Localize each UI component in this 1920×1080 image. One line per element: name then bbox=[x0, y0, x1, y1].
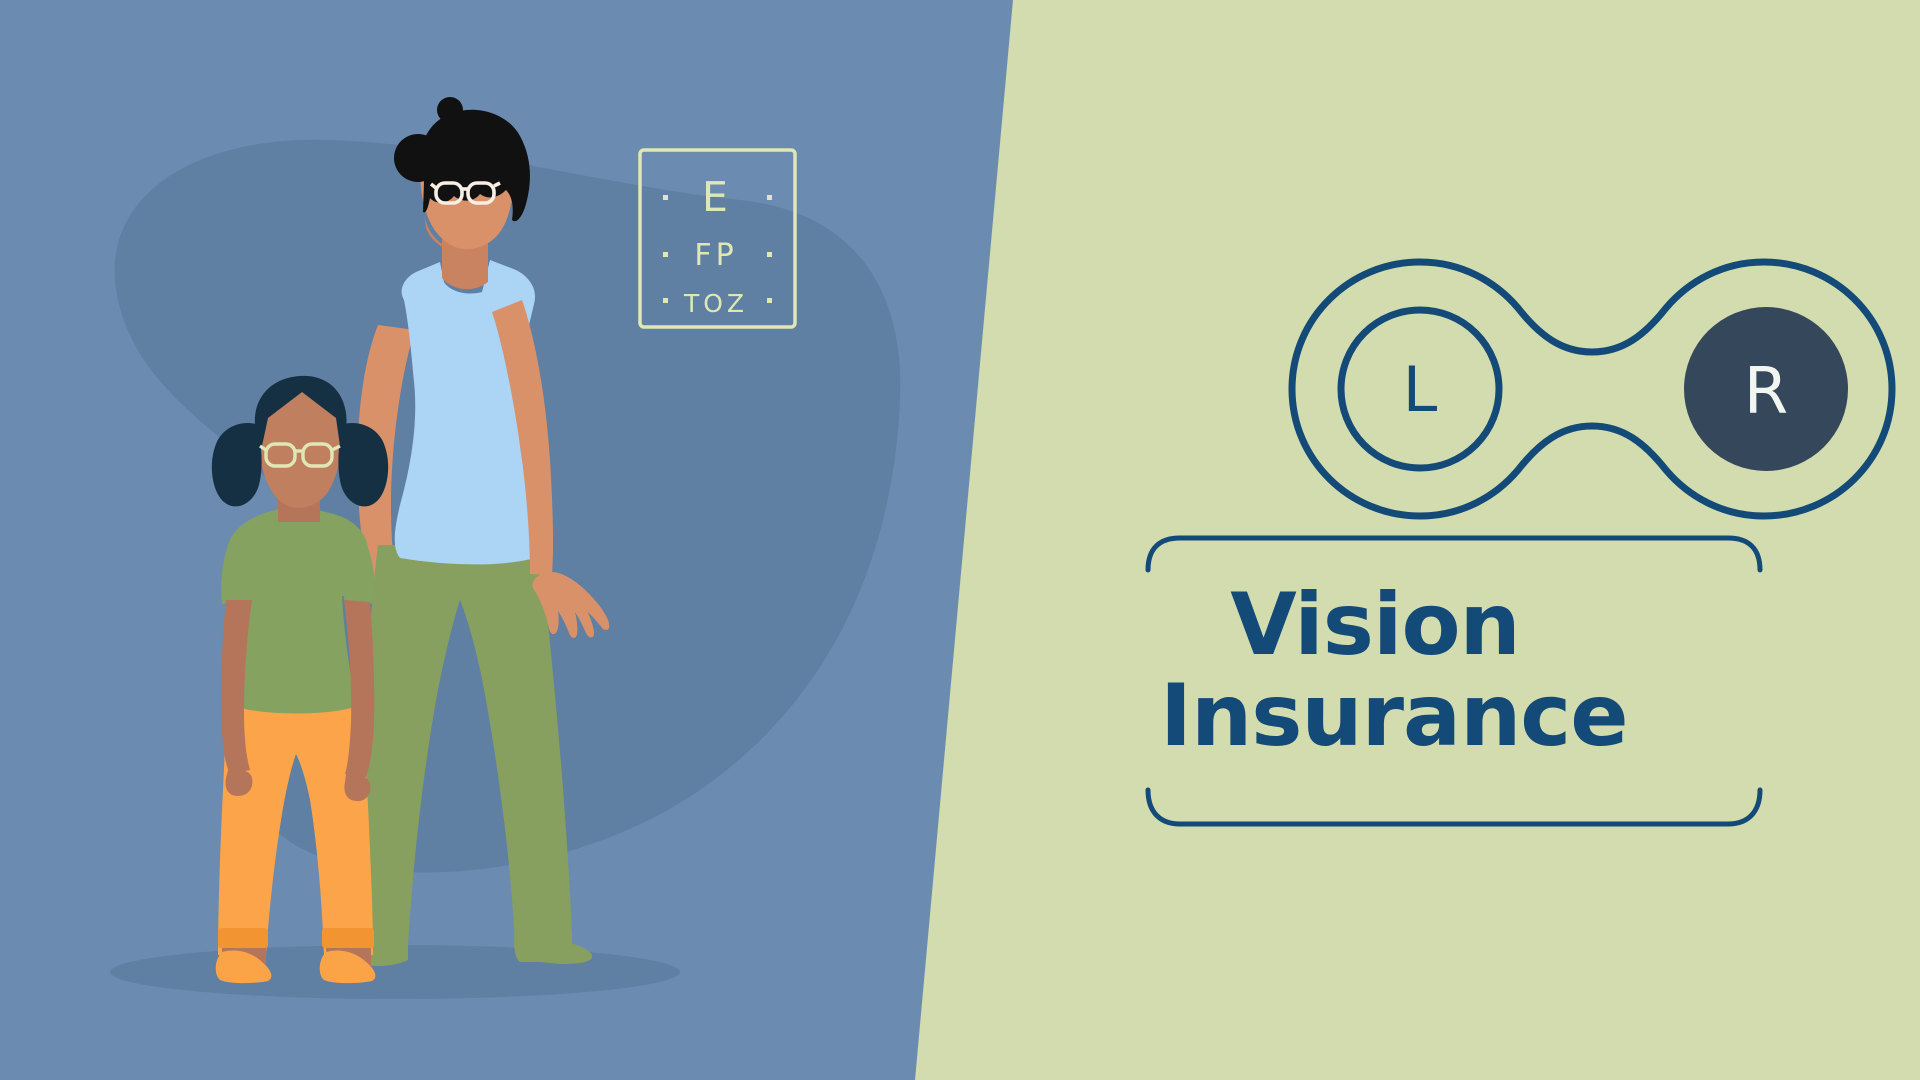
lens-right-label: R bbox=[1744, 355, 1788, 429]
lens-left-label: L bbox=[1403, 353, 1438, 426]
right-panel-layer: L R bbox=[0, 0, 1920, 1080]
page-title: Vision Insurance bbox=[1160, 580, 1590, 762]
title-bracket-bottom bbox=[1148, 790, 1760, 824]
contact-lens-pair-icon: L R bbox=[1292, 262, 1892, 516]
title-bracket-top bbox=[1148, 538, 1760, 570]
page-title-line-1: Vision bbox=[1160, 580, 1590, 671]
poster-canvas: E FP TOZ bbox=[0, 0, 1920, 1080]
page-title-line-2: Insurance bbox=[1160, 671, 1590, 762]
